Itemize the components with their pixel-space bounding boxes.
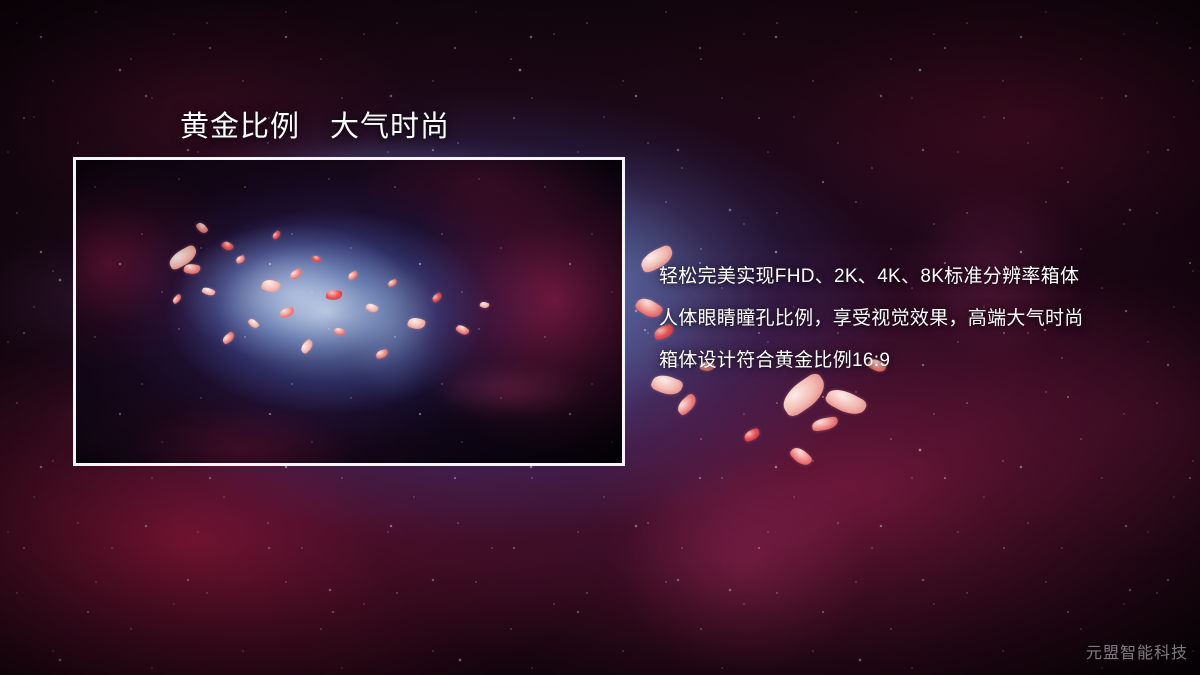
brand-watermark: 元盟智能科技 bbox=[1086, 639, 1188, 663]
page-title: 黄金比例 大气时尚 bbox=[180, 103, 450, 145]
body-line-1: 轻松完美实现FHD、2K、4K、8K标准分辨率箱体 bbox=[659, 256, 1179, 298]
body-line-3: 箱体设计符合黄金比例16:9 bbox=[659, 340, 1179, 382]
body-text-block: 轻松完美实现FHD、2K、4K、8K标准分辨率箱体 人体眼睛瞳孔比例，享受视觉效… bbox=[659, 256, 1179, 382]
framed-photo bbox=[73, 157, 625, 466]
body-line-2: 人体眼睛瞳孔比例，享受视觉效果，高端大气时尚 bbox=[659, 298, 1179, 340]
slide-canvas: 黄金比例 大气时尚 轻松完美实现FHD、2K、4K、8K标准分辨率箱体 人体眼睛… bbox=[0, 0, 1200, 675]
photo-vignette bbox=[76, 160, 622, 463]
